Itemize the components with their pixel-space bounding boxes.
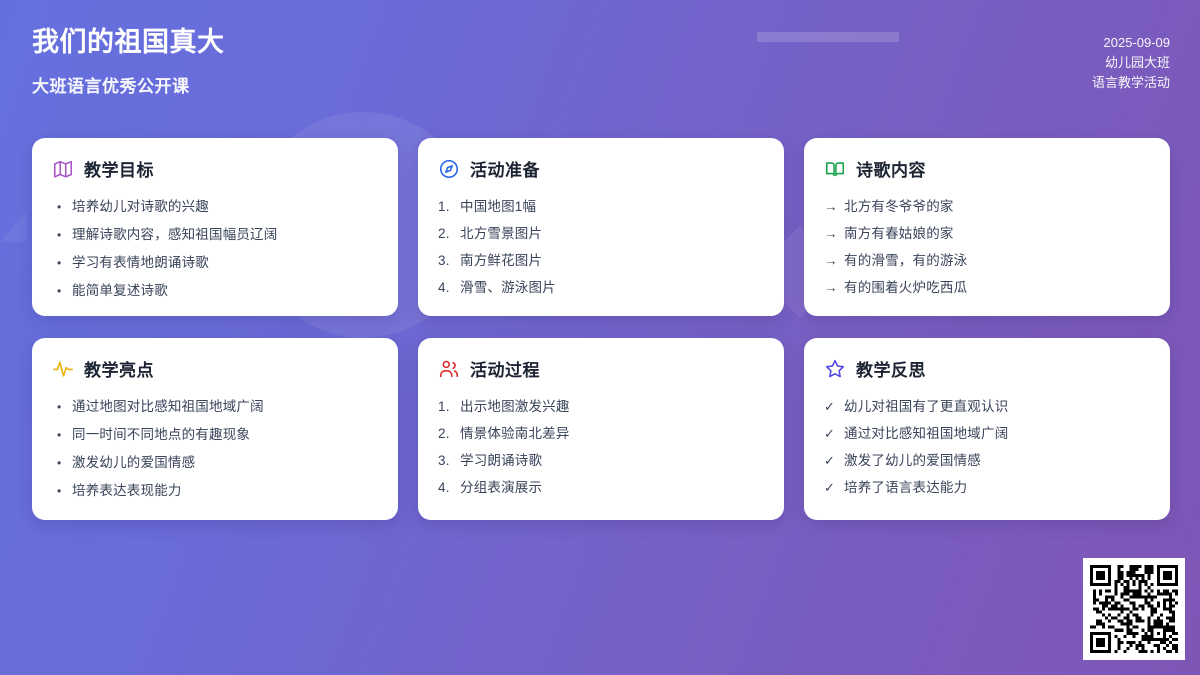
card-header: 诗歌内容 bbox=[824, 156, 1150, 181]
list-marker-check: ✓ bbox=[824, 393, 844, 420]
star-icon bbox=[824, 358, 846, 380]
qr-code-image bbox=[1090, 565, 1178, 653]
card-header: 教学反思 bbox=[824, 356, 1150, 381]
list-item: ✓幼儿对祖国有了更直观认识 bbox=[824, 393, 1150, 420]
list-item-text: 能简单复述诗歌 bbox=[72, 277, 378, 304]
card-list: •培养幼儿对诗歌的兴趣•理解诗歌内容，感知祖国幅员辽阔•学习有表情地朗诵诗歌•能… bbox=[52, 193, 378, 305]
header-grade: 幼儿园大班 bbox=[1092, 53, 1170, 73]
list-item-text: 情景体验南北差异 bbox=[460, 420, 764, 447]
header-category: 语言教学活动 bbox=[1092, 73, 1170, 93]
list-item-text: 分组表演展示 bbox=[460, 474, 764, 501]
list-marker-bullet: • bbox=[52, 394, 72, 421]
page-subtitle: 大班语言优秀公开课 bbox=[32, 72, 225, 97]
card-poem-content[interactable]: 诗歌内容→北方有冬爷爷的家→南方有春姑娘的家→有的滑雪，有的游泳→有的围着火炉吃… bbox=[804, 138, 1170, 316]
card-activity-process[interactable]: 活动过程1.出示地图激发兴趣2.情景体验南北差异3.学习朗诵诗歌4.分组表演展示 bbox=[418, 338, 784, 520]
list-item-text: 北方雪景图片 bbox=[460, 220, 764, 247]
list-marker-number: 3. bbox=[438, 247, 460, 274]
list-marker-check: ✓ bbox=[824, 447, 844, 474]
list-item: •同一时间不同地点的有趣现象 bbox=[52, 421, 378, 449]
header-date: 2025-09-09 bbox=[1092, 33, 1170, 53]
list-item-text: 南方鲜花图片 bbox=[460, 247, 764, 274]
list-item: •通过地图对比感知祖国地域广阔 bbox=[52, 393, 378, 421]
list-marker-arrow: → bbox=[824, 193, 844, 220]
list-marker-bullet: • bbox=[52, 478, 72, 505]
card-list: ✓幼儿对祖国有了更直观认识✓通过对比感知祖国地域广阔✓激发了幼儿的爱国情感✓培养… bbox=[824, 393, 1150, 501]
list-marker-bullet: • bbox=[52, 194, 72, 221]
card-list: 1.中国地图1幅2.北方雪景图片3.南方鲜花图片4.滑雪、游泳图片 bbox=[438, 193, 764, 301]
list-item-text: 有的围着火炉吃西瓜 bbox=[844, 274, 1150, 301]
list-marker-number: 3. bbox=[438, 447, 460, 474]
list-item-text: 理解诗歌内容，感知祖国幅员辽阔 bbox=[72, 221, 378, 248]
list-item-text: 培养了语言表达能力 bbox=[844, 474, 1150, 501]
list-item: →南方有春姑娘的家 bbox=[824, 220, 1150, 247]
list-item: 1.出示地图激发兴趣 bbox=[438, 393, 764, 420]
card-header: 教学亮点 bbox=[52, 356, 378, 381]
list-item-text: 幼儿对祖国有了更直观认识 bbox=[844, 393, 1150, 420]
list-marker-number: 1. bbox=[438, 393, 460, 420]
qr-code[interactable] bbox=[1083, 558, 1185, 660]
list-item: →有的滑雪，有的游泳 bbox=[824, 247, 1150, 274]
list-item: 3.南方鲜花图片 bbox=[438, 247, 764, 274]
list-marker-check: ✓ bbox=[824, 420, 844, 447]
list-marker-number: 1. bbox=[438, 193, 460, 220]
list-marker-bullet: • bbox=[52, 278, 72, 305]
list-marker-bullet: • bbox=[52, 250, 72, 277]
list-marker-number: 2. bbox=[438, 420, 460, 447]
list-item: ✓培养了语言表达能力 bbox=[824, 474, 1150, 501]
list-item: •激发幼儿的爱国情感 bbox=[52, 449, 378, 477]
list-item: •培养幼儿对诗歌的兴趣 bbox=[52, 193, 378, 221]
card-title: 活动过程 bbox=[470, 356, 540, 381]
list-item: →有的围着火炉吃西瓜 bbox=[824, 274, 1150, 301]
header-titles: 我们的祖国真大 大班语言优秀公开课 bbox=[32, 26, 225, 97]
card-grid: 教学目标•培养幼儿对诗歌的兴趣•理解诗歌内容，感知祖国幅员辽阔•学习有表情地朗诵… bbox=[32, 138, 1168, 520]
list-marker-arrow: → bbox=[824, 247, 844, 274]
card-title: 活动准备 bbox=[470, 156, 540, 181]
list-marker-number: 2. bbox=[438, 220, 460, 247]
list-item-text: 培养幼儿对诗歌的兴趣 bbox=[72, 193, 378, 220]
list-item-text: 同一时间不同地点的有趣现象 bbox=[72, 421, 378, 448]
list-marker-bullet: • bbox=[52, 422, 72, 449]
card-title: 教学反思 bbox=[856, 356, 926, 381]
activity-pulse-icon bbox=[52, 358, 74, 380]
list-marker-bullet: • bbox=[52, 222, 72, 249]
list-item: ✓通过对比感知祖国地域广阔 bbox=[824, 420, 1150, 447]
card-header: 活动过程 bbox=[438, 356, 764, 381]
card-header: 教学目标 bbox=[52, 156, 378, 181]
list-marker-bullet: • bbox=[52, 450, 72, 477]
card-title: 教学目标 bbox=[84, 156, 154, 181]
list-item: 2.北方雪景图片 bbox=[438, 220, 764, 247]
list-item: •培养表达表现能力 bbox=[52, 477, 378, 505]
list-item-text: 激发了幼儿的爱国情感 bbox=[844, 447, 1150, 474]
list-item: 3.学习朗诵诗歌 bbox=[438, 447, 764, 474]
list-item-text: 通过地图对比感知祖国地域广阔 bbox=[72, 393, 378, 420]
list-marker-number: 4. bbox=[438, 474, 460, 501]
card-teaching-goals[interactable]: 教学目标•培养幼儿对诗歌的兴趣•理解诗歌内容，感知祖国幅员辽阔•学习有表情地朗诵… bbox=[32, 138, 398, 316]
users-icon bbox=[438, 358, 460, 380]
page-title: 我们的祖国真大 bbox=[32, 26, 225, 60]
list-item: ✓激发了幼儿的爱国情感 bbox=[824, 447, 1150, 474]
list-item: 2.情景体验南北差异 bbox=[438, 420, 764, 447]
list-item: →北方有冬爷爷的家 bbox=[824, 193, 1150, 220]
list-item-text: 中国地图1幅 bbox=[460, 193, 764, 220]
card-title: 教学亮点 bbox=[84, 356, 154, 381]
compass-icon bbox=[438, 158, 460, 180]
list-item-text: 南方有春姑娘的家 bbox=[844, 220, 1150, 247]
list-marker-arrow: → bbox=[824, 220, 844, 247]
open-book-icon bbox=[824, 158, 846, 180]
card-list: •通过地图对比感知祖国地域广阔•同一时间不同地点的有趣现象•激发幼儿的爱国情感•… bbox=[52, 393, 378, 505]
page-header: 我们的祖国真大 大班语言优秀公开课 2025-09-09 幼儿园大班 语言教学活… bbox=[0, 0, 1200, 122]
decorative-triangle bbox=[0, 212, 26, 242]
list-marker-number: 4. bbox=[438, 274, 460, 301]
list-item: 4.分组表演展示 bbox=[438, 474, 764, 501]
card-activity-preparation[interactable]: 活动准备1.中国地图1幅2.北方雪景图片3.南方鲜花图片4.滑雪、游泳图片 bbox=[418, 138, 784, 316]
card-title: 诗歌内容 bbox=[856, 156, 926, 181]
card-teaching-reflection[interactable]: 教学反思✓幼儿对祖国有了更直观认识✓通过对比感知祖国地域广阔✓激发了幼儿的爱国情… bbox=[804, 338, 1170, 520]
card-teaching-highlights[interactable]: 教学亮点•通过地图对比感知祖国地域广阔•同一时间不同地点的有趣现象•激发幼儿的爱… bbox=[32, 338, 398, 520]
list-item-text: 学习朗诵诗歌 bbox=[460, 447, 764, 474]
list-item-text: 滑雪、游泳图片 bbox=[460, 274, 764, 301]
list-item: •能简单复述诗歌 bbox=[52, 277, 378, 305]
list-item-text: 北方有冬爷爷的家 bbox=[844, 193, 1150, 220]
list-item: 1.中国地图1幅 bbox=[438, 193, 764, 220]
card-list: →北方有冬爷爷的家→南方有春姑娘的家→有的滑雪，有的游泳→有的围着火炉吃西瓜 bbox=[824, 193, 1150, 301]
card-header: 活动准备 bbox=[438, 156, 764, 181]
map-icon bbox=[52, 158, 74, 180]
list-item-text: 培养表达表现能力 bbox=[72, 477, 378, 504]
card-list: 1.出示地图激发兴趣2.情景体验南北差异3.学习朗诵诗歌4.分组表演展示 bbox=[438, 393, 764, 501]
list-marker-arrow: → bbox=[824, 274, 844, 301]
list-item-text: 有的滑雪，有的游泳 bbox=[844, 247, 1150, 274]
list-item-text: 学习有表情地朗诵诗歌 bbox=[72, 249, 378, 276]
list-item: •理解诗歌内容，感知祖国幅员辽阔 bbox=[52, 221, 378, 249]
list-item-text: 出示地图激发兴趣 bbox=[460, 393, 764, 420]
list-item: •学习有表情地朗诵诗歌 bbox=[52, 249, 378, 277]
list-item-text: 通过对比感知祖国地域广阔 bbox=[844, 420, 1150, 447]
list-marker-check: ✓ bbox=[824, 474, 844, 501]
header-meta: 2025-09-09 幼儿园大班 语言教学活动 bbox=[1092, 26, 1170, 93]
list-item-text: 激发幼儿的爱国情感 bbox=[72, 449, 378, 476]
list-item: 4.滑雪、游泳图片 bbox=[438, 274, 764, 301]
